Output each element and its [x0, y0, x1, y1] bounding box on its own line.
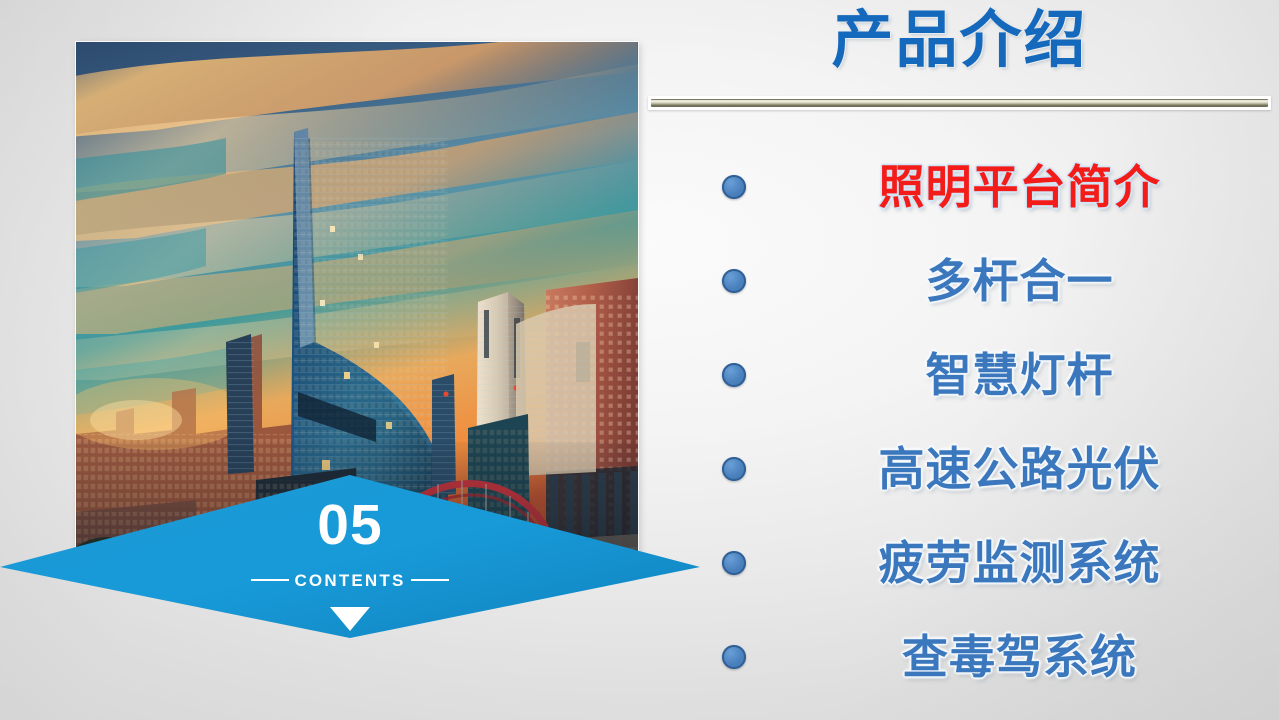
bullet-dot-icon [722, 269, 746, 293]
bullet-dot-icon [722, 363, 746, 387]
divider-bar [651, 99, 1268, 107]
list-item[interactable]: 查毒驾系统 [648, 610, 1271, 704]
list-item-label: 疲劳监测系统 [768, 540, 1271, 586]
page-title: 产品介绍 [648, 6, 1271, 75]
cityscape-photo [76, 42, 638, 573]
triangle-down-icon [0, 605, 700, 635]
contents-text: CONTENTS [294, 571, 405, 590]
bullet-dot-icon [722, 551, 746, 575]
agenda-list: 照明平台简介 多杆合一 智慧灯杆 高速公路光伏 疲劳监测系统 查毒驾系统 [648, 140, 1271, 700]
rule-left [251, 579, 289, 581]
presentation-slide: 05 CONTENTS 产品介绍 照明平台简介 多杆合一 智慧灯杆 高速公路光伏 [0, 0, 1279, 720]
list-item[interactable]: 疲劳监测系统 [648, 516, 1271, 610]
rule-right [411, 579, 449, 581]
bullet-dot-icon [722, 457, 746, 481]
list-item-label: 智慧灯杆 [768, 352, 1271, 398]
list-item[interactable]: 高速公路光伏 [648, 422, 1271, 516]
list-item[interactable]: 多杆合一 [648, 234, 1271, 328]
list-item-label: 高速公路光伏 [768, 446, 1271, 492]
badge-contents-label: CONTENTS [0, 572, 700, 589]
list-item-label: 查毒驾系统 [768, 634, 1271, 680]
list-item-label: 多杆合一 [768, 258, 1271, 304]
bullet-dot-icon [722, 175, 746, 199]
title-divider [648, 96, 1271, 110]
list-item-label: 照明平台简介 [768, 164, 1271, 210]
list-item[interactable]: 智慧灯杆 [648, 328, 1271, 422]
bullet-dot-icon [722, 645, 746, 669]
list-item[interactable]: 照明平台简介 [648, 140, 1271, 234]
